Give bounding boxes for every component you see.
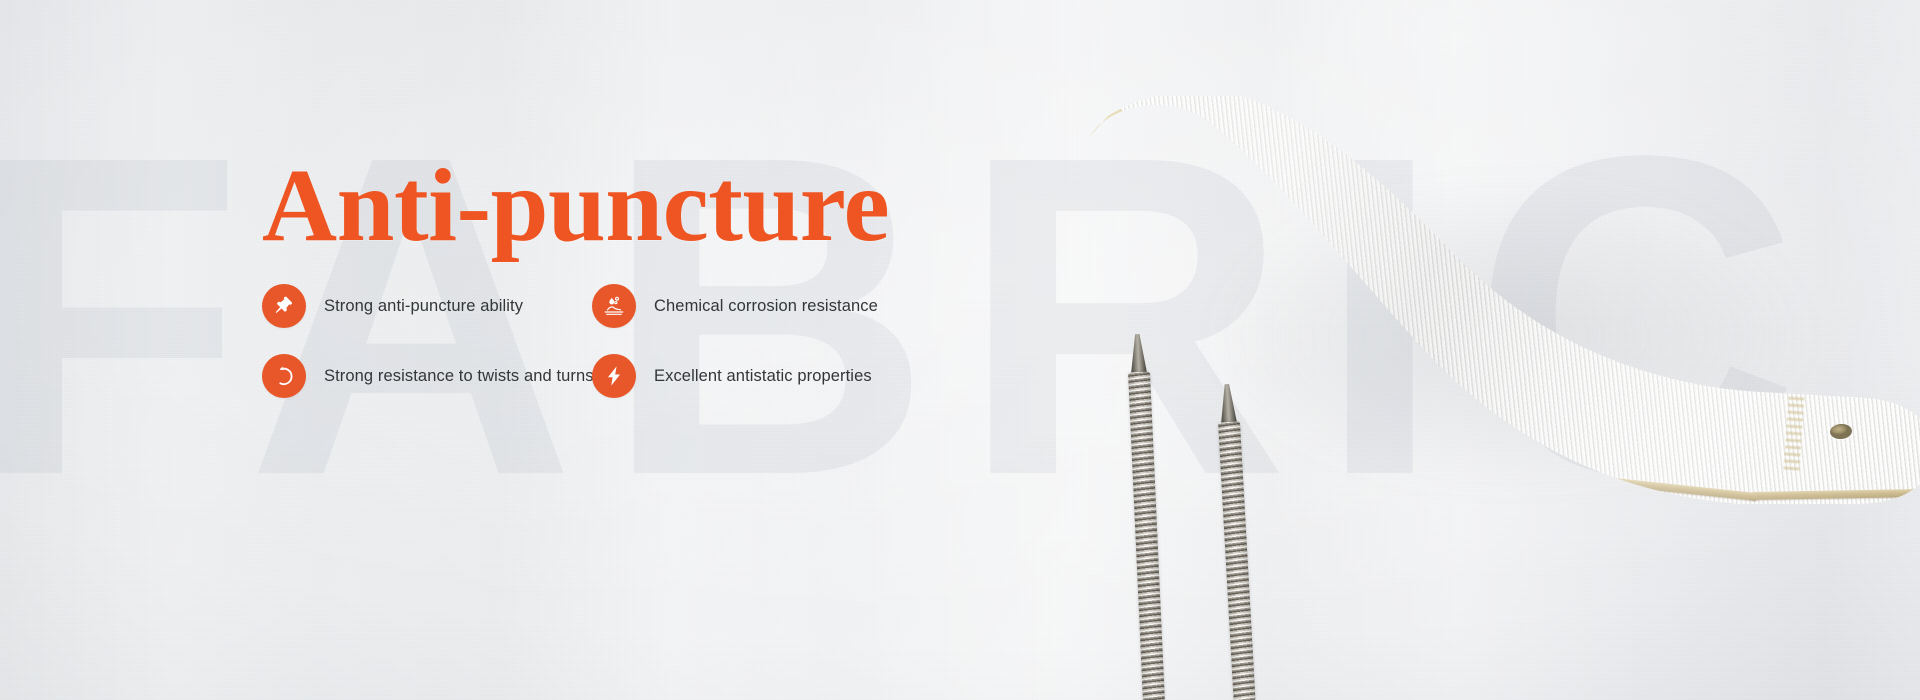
tweezer-tip-right	[1218, 384, 1239, 431]
fabric-coated-edge	[1060, 96, 1920, 526]
banner-content: Anti-puncture Strong anti-puncture abili…	[262, 150, 962, 398]
fabric-highlight-sheen	[1060, 96, 1920, 526]
feature-item-twist-resistance[interactable]: Strong resistance to twists and turns	[262, 354, 592, 398]
feature-list: Strong anti-puncture ability	[262, 284, 962, 398]
lightning-bolt-icon	[592, 354, 636, 398]
tweezer-tip-left	[1128, 334, 1148, 381]
tweezer-arm-left	[1128, 372, 1165, 700]
fabric-bend-shading	[1163, 96, 1838, 526]
feature-label: Excellent antistatic properties	[654, 366, 872, 386]
fabric-edge-segment	[1750, 489, 1920, 500]
feature-label: Strong resistance to twists and turns	[324, 366, 594, 386]
fabric-punched-hole	[1830, 423, 1853, 439]
fabric-woven-surface	[1060, 96, 1920, 526]
feature-label: Chemical corrosion resistance	[654, 296, 878, 316]
page-title: Anti-puncture	[262, 150, 962, 262]
anti-puncture-fabric-sheet	[1060, 96, 1920, 526]
feature-item-chemical-corrosion[interactable]: Chemical corrosion resistance	[592, 284, 922, 328]
pushpin-icon	[262, 284, 306, 328]
feature-item-anti-puncture[interactable]: Strong anti-puncture ability	[262, 284, 592, 328]
product-feature-banner: FABRIC	[0, 0, 1920, 700]
tweezer-arm-right	[1218, 421, 1256, 700]
fabric-edge-nose	[1072, 102, 1130, 154]
rotate-arrow-icon	[262, 354, 306, 398]
feature-item-antistatic[interactable]: Excellent antistatic properties	[592, 354, 922, 398]
fabric-edge-segment	[1306, 374, 1498, 473]
fabric-drop-shadow	[1090, 120, 1920, 550]
fabric-edge-segment	[1500, 466, 1759, 501]
fabric-printed-marking	[1783, 396, 1804, 471]
tweezer-body-right	[1218, 421, 1256, 700]
feature-label: Strong anti-puncture ability	[324, 296, 523, 316]
liquid-drop-surface-icon	[592, 284, 636, 328]
tweezer-body-left	[1128, 372, 1165, 700]
fabric-edge-segment	[1169, 239, 1313, 388]
fabric-edge-segment	[1071, 132, 1185, 316]
